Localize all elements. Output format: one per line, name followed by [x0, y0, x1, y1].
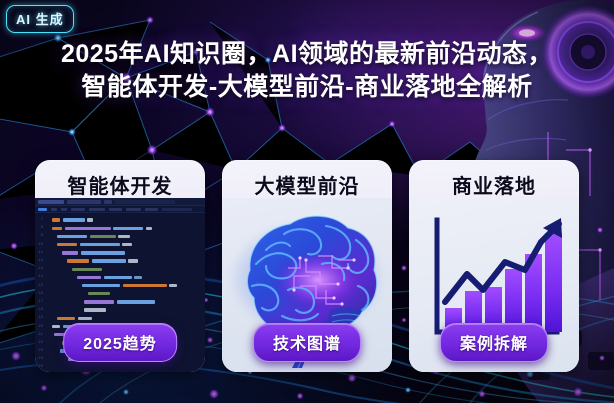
chart-trend-line [445, 218, 562, 302]
page-title-line-1: 2025年AI知识圈，AI领域的最新前沿动态， [61, 40, 553, 68]
feature-card-agent-development[interactable]: 智能体开发 7 8 9 10 [35, 160, 205, 372]
feature-card-business-landing[interactable]: 商业落地 [409, 160, 579, 372]
poster-canvas: AI 生成 2025年AI知识圈，AI领域的最新前沿动态， 智能体开发-大模型前… [0, 0, 614, 403]
card-title-large-model-frontier: 大模型前沿 [255, 170, 360, 199]
card-cta-tech-map[interactable]: 技术图谱 [253, 323, 361, 362]
ai-generated-badge: AI 生成 [6, 5, 74, 33]
feature-card-large-model-frontier[interactable]: 大模型前沿 [222, 160, 392, 372]
ide-menu-bar [35, 206, 205, 213]
card-title-business-landing: 商业落地 [452, 170, 536, 199]
feature-card-row: 智能体开发 7 8 9 10 [0, 160, 614, 372]
ide-tab-bar [35, 198, 205, 206]
page-title-line-2: 智能体开发-大模型前沿-商业落地全解析 [14, 71, 600, 104]
card-title-agent-development: 智能体开发 [68, 170, 173, 199]
card-cta-case-breakdown[interactable]: 案例拆解 [440, 323, 548, 362]
page-title: 2025年AI知识圈，AI领域的最新前沿动态， 智能体开发-大模型前沿-商业落地… [0, 38, 614, 104]
card-cta-2025-trend[interactable]: 2025趋势 [63, 323, 177, 362]
